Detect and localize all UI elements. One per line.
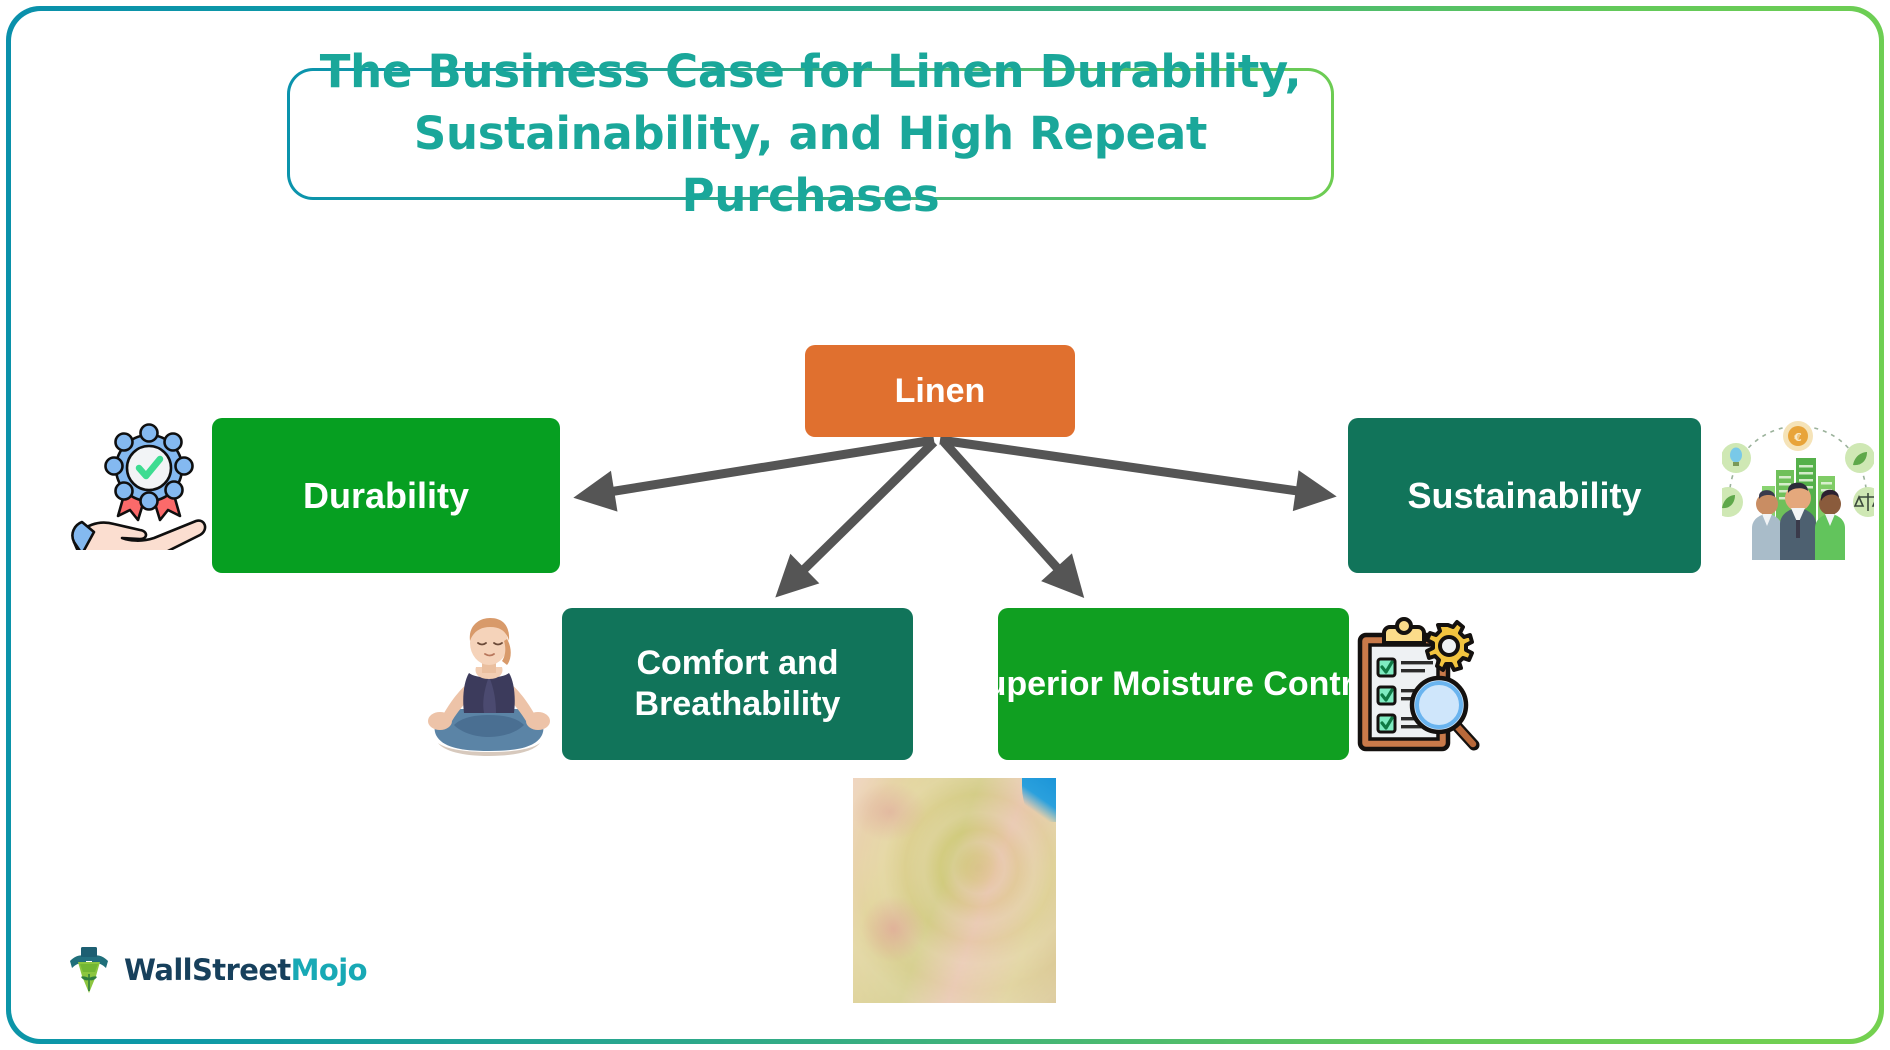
node-linen-label: Linen <box>895 371 986 412</box>
wallstreetmojo-logo[interactable]: WallStreetMojo <box>66 945 367 995</box>
sustainable-business-people-icon: € <box>1722 418 1874 560</box>
fabric-tone-b <box>853 783 926 842</box>
meditating-woman-icon <box>424 617 554 759</box>
node-durability-label: Durability <box>303 474 469 517</box>
svg-text:€: € <box>1793 431 1802 444</box>
wallstreetmojo-mascot-icon <box>66 945 112 995</box>
node-durability[interactable]: Durability <box>212 418 560 573</box>
infographic-canvas: The Business Case for Linen Durability,S… <box>0 0 1890 1050</box>
fabric-tone-a <box>861 895 926 963</box>
title-card: The Business Case for Linen Durability,S… <box>287 68 1334 200</box>
node-sustainability-label: Sustainability <box>1407 474 1641 517</box>
page-title: The Business Case for Linen Durability,S… <box>290 41 1331 227</box>
node-linen[interactable]: Linen <box>805 345 1075 437</box>
node-sustainability[interactable]: Sustainability <box>1348 418 1701 573</box>
node-comfort-breathability-label: Comfort and Breathability <box>635 643 841 725</box>
node-superior-moisture-control[interactable]: Superior Moisture Control <box>998 608 1349 760</box>
page-title-line2: Sustainability, and High Repeat Purchase… <box>414 107 1207 222</box>
fabric-blue-corner <box>1022 778 1056 822</box>
logo-text-accent: Mojo <box>291 953 367 987</box>
logo-wordmark: WallStreetMojo <box>124 953 367 987</box>
title-card-inner: The Business Case for Linen Durability,S… <box>290 71 1331 197</box>
node-comfort-breathability[interactable]: Comfort and Breathability <box>562 608 913 760</box>
linen-fabric-photo <box>853 778 1056 1003</box>
node-superior-moisture-control-label: Superior Moisture Control <box>963 664 1384 705</box>
checklist-clipboard-icon <box>1350 617 1482 759</box>
quality-badge-in-hand-icon <box>68 420 208 550</box>
logo-text-primary: WallStreet <box>124 953 291 987</box>
page-title-line1: The Business Case for Linen Durability, <box>320 45 1302 98</box>
